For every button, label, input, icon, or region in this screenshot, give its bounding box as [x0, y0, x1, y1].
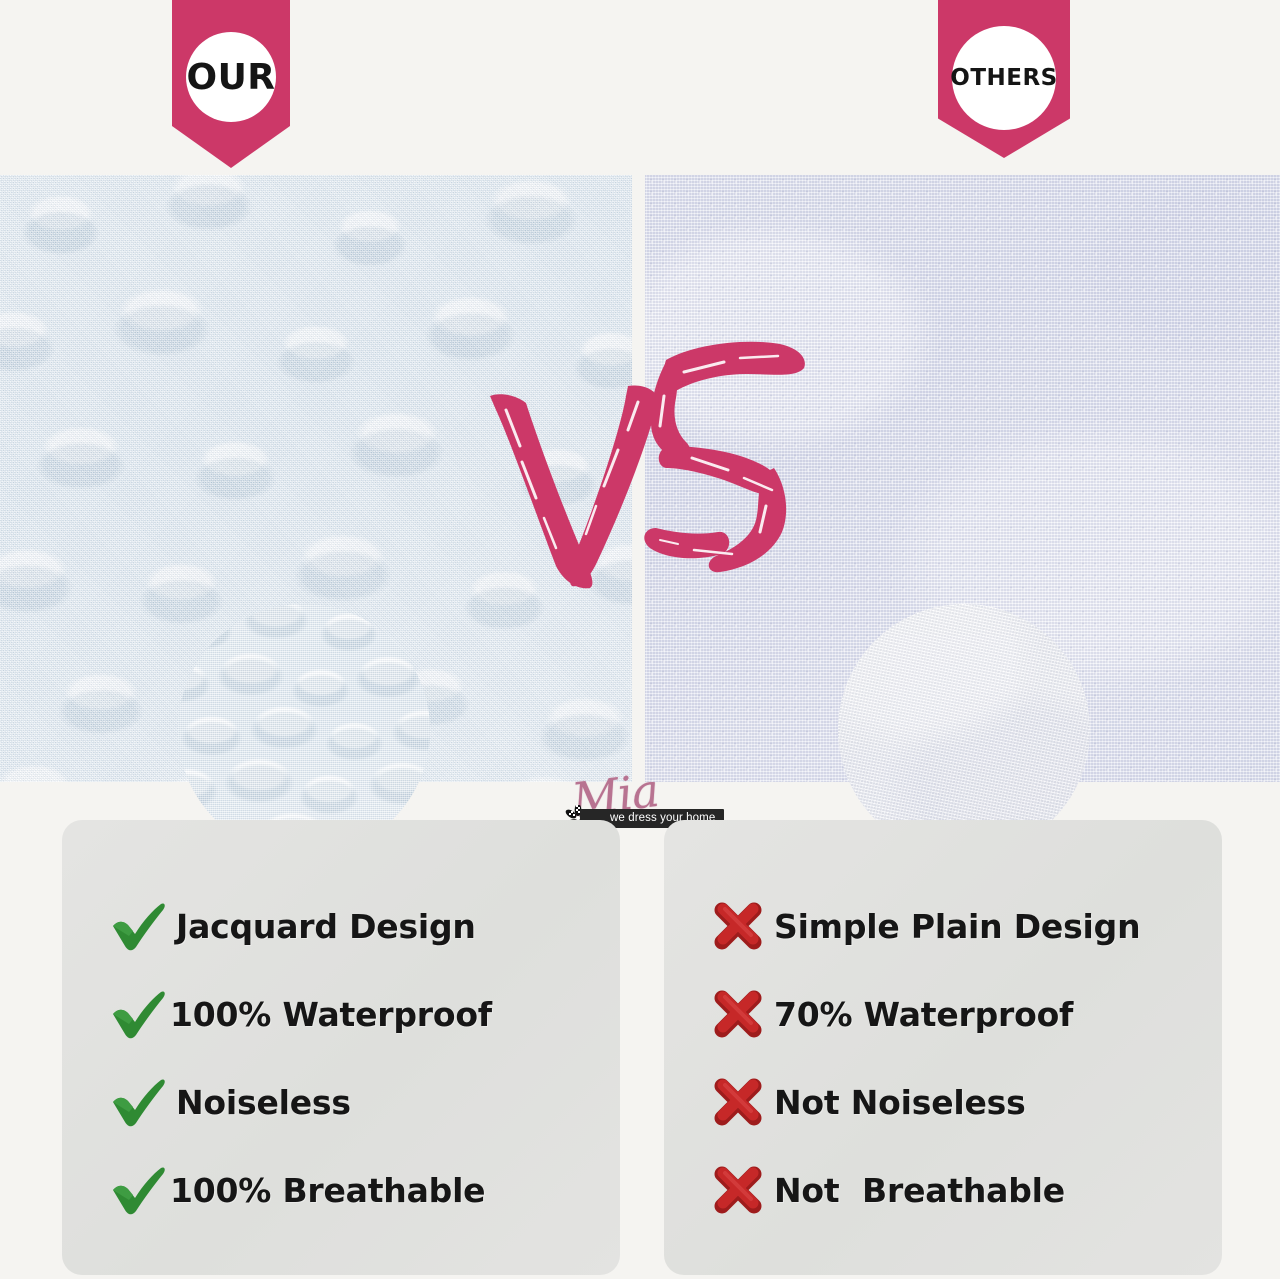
cross-icon: [706, 1078, 770, 1126]
features-panel-ours: Jacquard Design 100% Waterproof: [62, 820, 620, 1275]
list-item: Simple Plain Design: [664, 882, 1222, 970]
feature-list-others: Simple Plain Design 70% Waterproof: [664, 820, 1222, 1275]
list-item: 100% Breathable: [62, 1146, 620, 1234]
badge-others: OTHERS: [938, 0, 1070, 158]
inset-zoom-others: [838, 604, 1090, 856]
badge-ours: OUR: [172, 0, 290, 168]
check-icon: [106, 900, 170, 952]
feature-label: 70% Waterproof: [774, 995, 1073, 1034]
cross-icon: [706, 1166, 770, 1214]
feature-label: Not Noiseless: [774, 1083, 1026, 1122]
check-icon: [106, 988, 170, 1040]
list-item: Not Breathable: [664, 1146, 1222, 1234]
inset-zoom-ours: [178, 604, 430, 856]
feature-label: 100% Waterproof: [170, 995, 492, 1034]
badge-ours-label: OUR: [186, 57, 275, 98]
list-item: 70% Waterproof: [664, 970, 1222, 1058]
feature-label: Not Breathable: [774, 1171, 1065, 1210]
list-item: 100% Waterproof: [62, 970, 620, 1058]
feature-label: Noiseless: [176, 1083, 351, 1122]
badge-others-label: OTHERS: [950, 65, 1057, 91]
check-icon: [106, 1076, 170, 1128]
comparison-infographic: OUR OTHERS Mia: [0, 0, 1280, 1279]
list-item: Jacquard Design: [62, 882, 620, 970]
feature-list-ours: Jacquard Design 100% Waterproof: [62, 820, 620, 1275]
inset-jacquard-weave: [178, 604, 430, 856]
features-panel-others: Simple Plain Design 70% Waterproof: [664, 820, 1222, 1275]
list-item: Not Noiseless: [664, 1058, 1222, 1146]
feature-label: Simple Plain Design: [774, 907, 1140, 946]
feature-label: Jacquard Design: [176, 907, 476, 946]
cross-icon: [706, 902, 770, 950]
cross-icon: [706, 990, 770, 1038]
feature-label: 100% Breathable: [170, 1171, 485, 1210]
inset-plain-weave: [838, 604, 1090, 856]
check-icon: [106, 1164, 170, 1216]
list-item: Noiseless: [62, 1058, 620, 1146]
badge-disc: OTHERS: [952, 26, 1056, 130]
badge-disc: OUR: [186, 32, 276, 122]
vs-divider: [478, 300, 828, 590]
